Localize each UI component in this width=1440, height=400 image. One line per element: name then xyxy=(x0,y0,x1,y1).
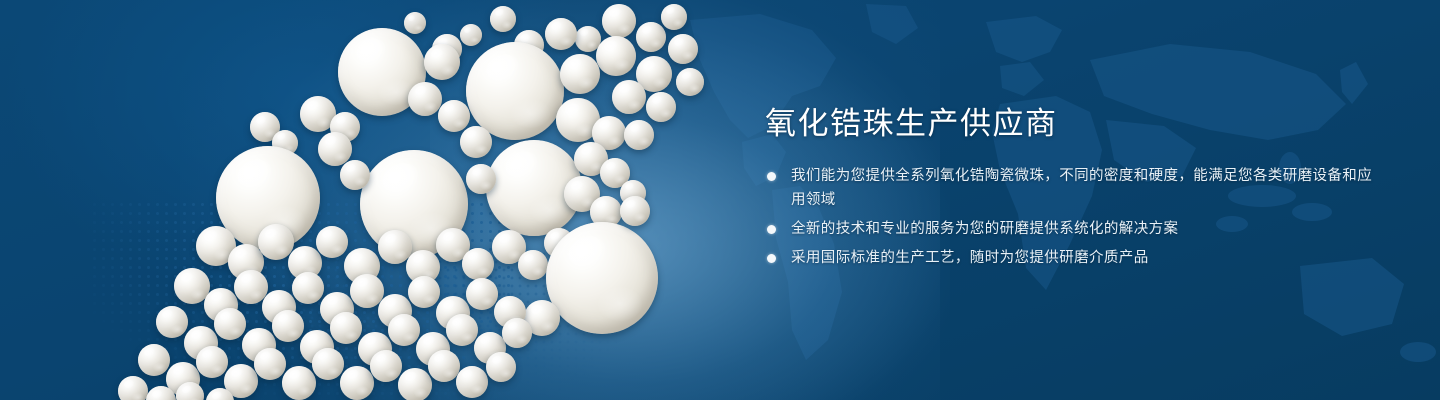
filled-circle-bullet-icon xyxy=(767,172,776,181)
list-item: 全新的技术和专业的服务为您的研磨提供系统化的解决方案 xyxy=(765,217,1385,241)
hero-banner: 氧化锆珠生产供应商 我们能为您提供全系列氧化锆陶瓷微珠，不同的密度和硬度，能满足… xyxy=(0,0,1440,400)
list-item-label: 我们能为您提供全系列氧化锆陶瓷微珠，不同的密度和硬度，能满足您各类研磨设备和应用… xyxy=(791,168,1372,208)
banner-feature-list: 我们能为您提供全系列氧化锆陶瓷微珠，不同的密度和硬度，能满足您各类研磨设备和应用… xyxy=(765,164,1385,270)
banner-headline: 氧化锆珠生产供应商 xyxy=(765,104,1385,144)
filled-circle-bullet-icon xyxy=(767,254,776,263)
filled-circle-bullet-icon xyxy=(767,225,776,234)
list-item-label: 采用国际标准的生产工艺，随时为您提供研磨介质产品 xyxy=(791,250,1149,266)
list-item: 我们能为您提供全系列氧化锆陶瓷微珠，不同的密度和硬度，能满足您各类研磨设备和应用… xyxy=(765,164,1385,212)
banner-copy: 氧化锆珠生产供应商 我们能为您提供全系列氧化锆陶瓷微珠，不同的密度和硬度，能满足… xyxy=(765,104,1385,275)
list-item-label: 全新的技术和专业的服务为您的研磨提供系统化的解决方案 xyxy=(791,221,1178,237)
list-item: 采用国际标准的生产工艺，随时为您提供研磨介质产品 xyxy=(765,246,1385,270)
